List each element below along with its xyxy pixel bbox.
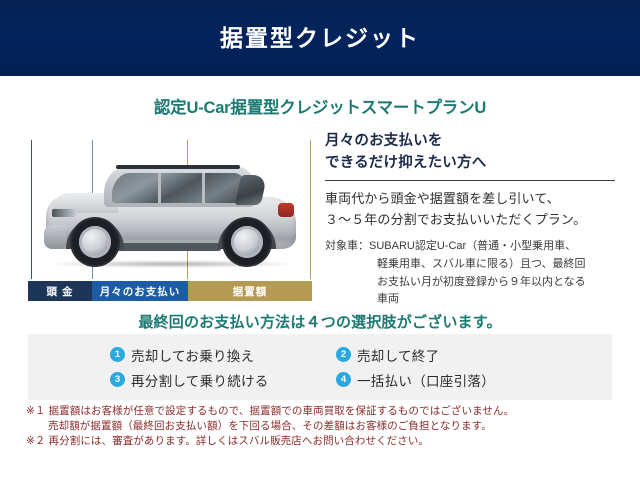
eligible-vehicle-note-line4: 車両 (325, 291, 621, 309)
option-label: 売却して終了 (357, 345, 439, 365)
footnotes: ※１ 据置額はお客様が任意で設定するもので、据置額での車両買取を保証するものでは… (26, 404, 626, 449)
car-rear-wheel (224, 219, 270, 265)
segment-residual-value: 据置額 (188, 281, 312, 301)
options-grid: 1 売却してお乗り換え 2 売却して終了 3 再分割して乗り続ける 4 一括払い… (110, 342, 580, 392)
option-number-badge: 4 (336, 372, 351, 387)
eligible-vehicle-note-line1: 対象車：SUBARU認定U-Car（普通・小型乗用車、 (325, 238, 621, 256)
description-heading-line2: できるだけ抑えたい方へ (325, 152, 621, 174)
description-divider (325, 180, 615, 181)
car-front-wheel (72, 219, 118, 265)
option-item-2[interactable]: 2 売却して終了 (336, 342, 580, 367)
footnote-line-2: 売却額が据置額（最終回お支払い額）を下回る場合、その差額はお客様のご負担となりま… (26, 419, 626, 434)
option-item-1[interactable]: 1 売却してお乗り換え (110, 342, 336, 367)
eligible-vehicle-note: 対象車：SUBARU認定U-Car（普通・小型乗用車、 軽乗用車、スバル車に限る… (325, 238, 621, 309)
description-column: 月々のお支払いを できるだけ抑えたい方へ 車両代から頭金や据置額を差し引いて、 … (325, 130, 621, 309)
options-heading: 最終回のお支払い方法は４つの選択肢がございます。 (0, 311, 640, 332)
vehicle-segment-illustration: 頭 金 月々のお支払い 据置額 (28, 136, 312, 301)
eligible-vehicle-note-line3: お支払い月が初度登録から９年以内となる (325, 274, 621, 292)
eligible-vehicle-note-line2: 軽乗用車、スバル車に限る）且つ、最終回 (325, 256, 621, 274)
vehicle-photo (28, 136, 312, 279)
footnote-line-3: ※２ 再分割には、審査があります。詳しくはスバル販売店へお問い合わせください。 (26, 434, 626, 449)
option-item-3[interactable]: 3 再分割して乗り続ける (110, 367, 336, 392)
plan-subtitle: 認定U-Car据置型クレジットスマートプランU (0, 94, 640, 118)
option-label: 再分割して乗り続ける (131, 370, 269, 390)
option-label: 一括払い（口座引落） (357, 370, 495, 390)
option-label: 売却してお乗り換え (131, 345, 254, 365)
car-headlight (52, 209, 78, 217)
suv-illustration (42, 157, 300, 265)
option-number-badge: 1 (110, 347, 125, 362)
segment-divider-4 (310, 140, 311, 279)
options-panel: 1 売却してお乗り換え 2 売却して終了 3 再分割して乗り続ける 4 一括払い… (28, 334, 612, 400)
promo-page: 据置型クレジット 認定U-Car据置型クレジットスマートプランU (0, 0, 640, 480)
description-heading-line1: 月々のお支払いを (325, 130, 621, 152)
description-body: 車両代から頭金や据置額を差し引いて、 ３～５年の分割でお支払いいただくプラン。 (325, 188, 621, 230)
car-pillar-b (158, 173, 161, 203)
segment-monthly-payment: 月々のお支払い (92, 281, 188, 301)
segment-down-payment: 頭 金 (28, 281, 92, 301)
page-title: 据置型クレジット (220, 27, 420, 50)
car-roof-rail (116, 165, 240, 169)
car-pillar-c (202, 173, 205, 203)
segment-divider-1 (31, 140, 32, 279)
car-windows (112, 173, 246, 203)
car-front-bumper (44, 225, 66, 249)
option-number-badge: 3 (110, 372, 125, 387)
description-body-line1: 車両代から頭金や据置額を差し引いて、 (325, 188, 621, 209)
header-banner: 据置型クレジット (0, 0, 640, 76)
payment-segment-bar: 頭 金 月々のお支払い 据置額 (28, 281, 312, 301)
option-item-4[interactable]: 4 一括払い（口座引落） (336, 367, 580, 392)
car-taillight (278, 203, 294, 217)
description-body-line2: ３～５年の分割でお支払いいただくプラン。 (325, 209, 621, 230)
option-number-badge: 2 (336, 347, 351, 362)
footnote-line-1: ※１ 据置額はお客様が任意で設定するもので、据置額での車両買取を保証するものでは… (26, 404, 626, 419)
description-heading: 月々のお支払いを できるだけ抑えたい方へ (325, 130, 621, 175)
